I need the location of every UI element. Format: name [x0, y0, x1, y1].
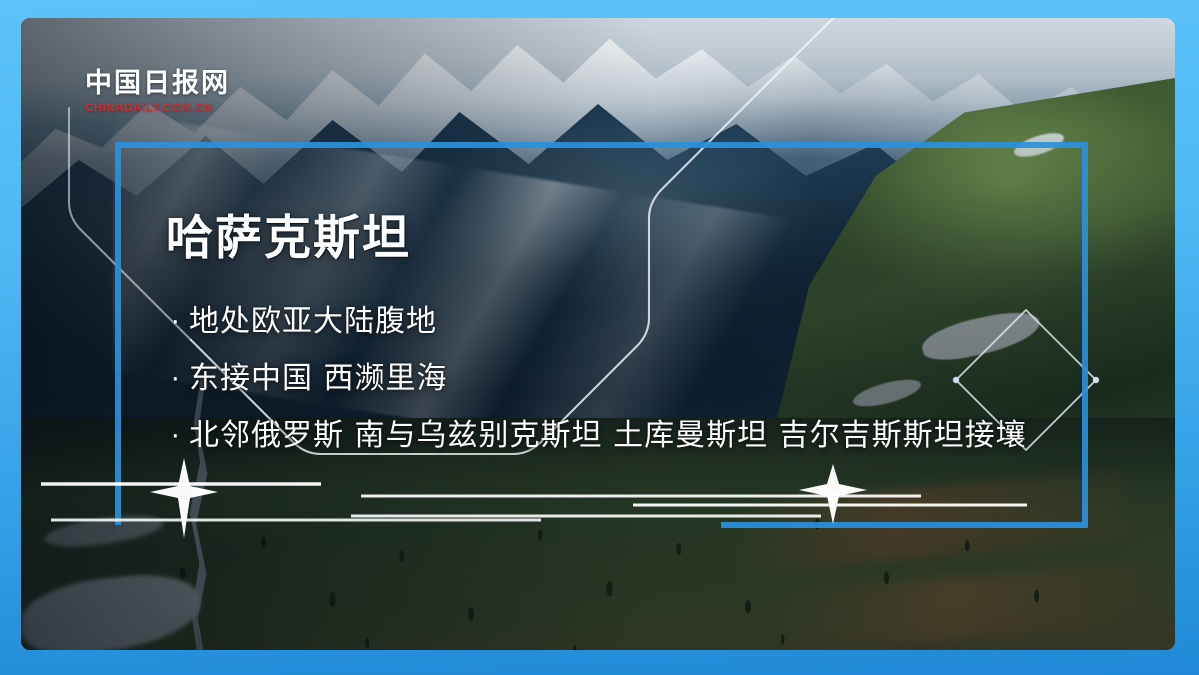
- list-item: · 北邻俄罗斯 南与乌兹别克斯坦 土库曼斯坦 吉尔吉斯斯坦接壤: [171, 410, 1027, 467]
- bullet-dot-icon: ·: [171, 423, 189, 450]
- list-item: · 地处欧亚大陆腹地: [171, 296, 1027, 353]
- watermark-url-text: CHINADAILY.COM.CN: [85, 102, 230, 114]
- video-surface[interactable]: 中国日报网 CHINADAILY.COM.CN: [21, 18, 1175, 650]
- list-item: · 东接中国 西濒里海: [171, 353, 1027, 410]
- video-player-frame: 中国日报网 CHINADAILY.COM.CN: [0, 0, 1199, 675]
- bullet-dot-icon: ·: [171, 309, 189, 336]
- watermark: 中国日报网 CHINADAILY.COM.CN: [85, 70, 230, 114]
- bullet-text: 地处欧亚大陆腹地: [189, 296, 437, 340]
- bullet-dot-icon: ·: [171, 366, 189, 393]
- page-title: 哈萨克斯坦: [166, 213, 411, 265]
- bullet-text: 北邻俄罗斯 南与乌兹别克斯坦 土库曼斯坦 吉尔吉斯斯坦接壤: [189, 410, 1027, 454]
- bullet-list: · 地处欧亚大陆腹地 · 东接中国 西濒里海 · 北邻俄罗斯 南与乌兹别克斯坦 …: [171, 296, 1027, 467]
- watermark-chinese-text: 中国日报网: [85, 70, 230, 97]
- bullet-text: 东接中国 西濒里海: [189, 353, 448, 397]
